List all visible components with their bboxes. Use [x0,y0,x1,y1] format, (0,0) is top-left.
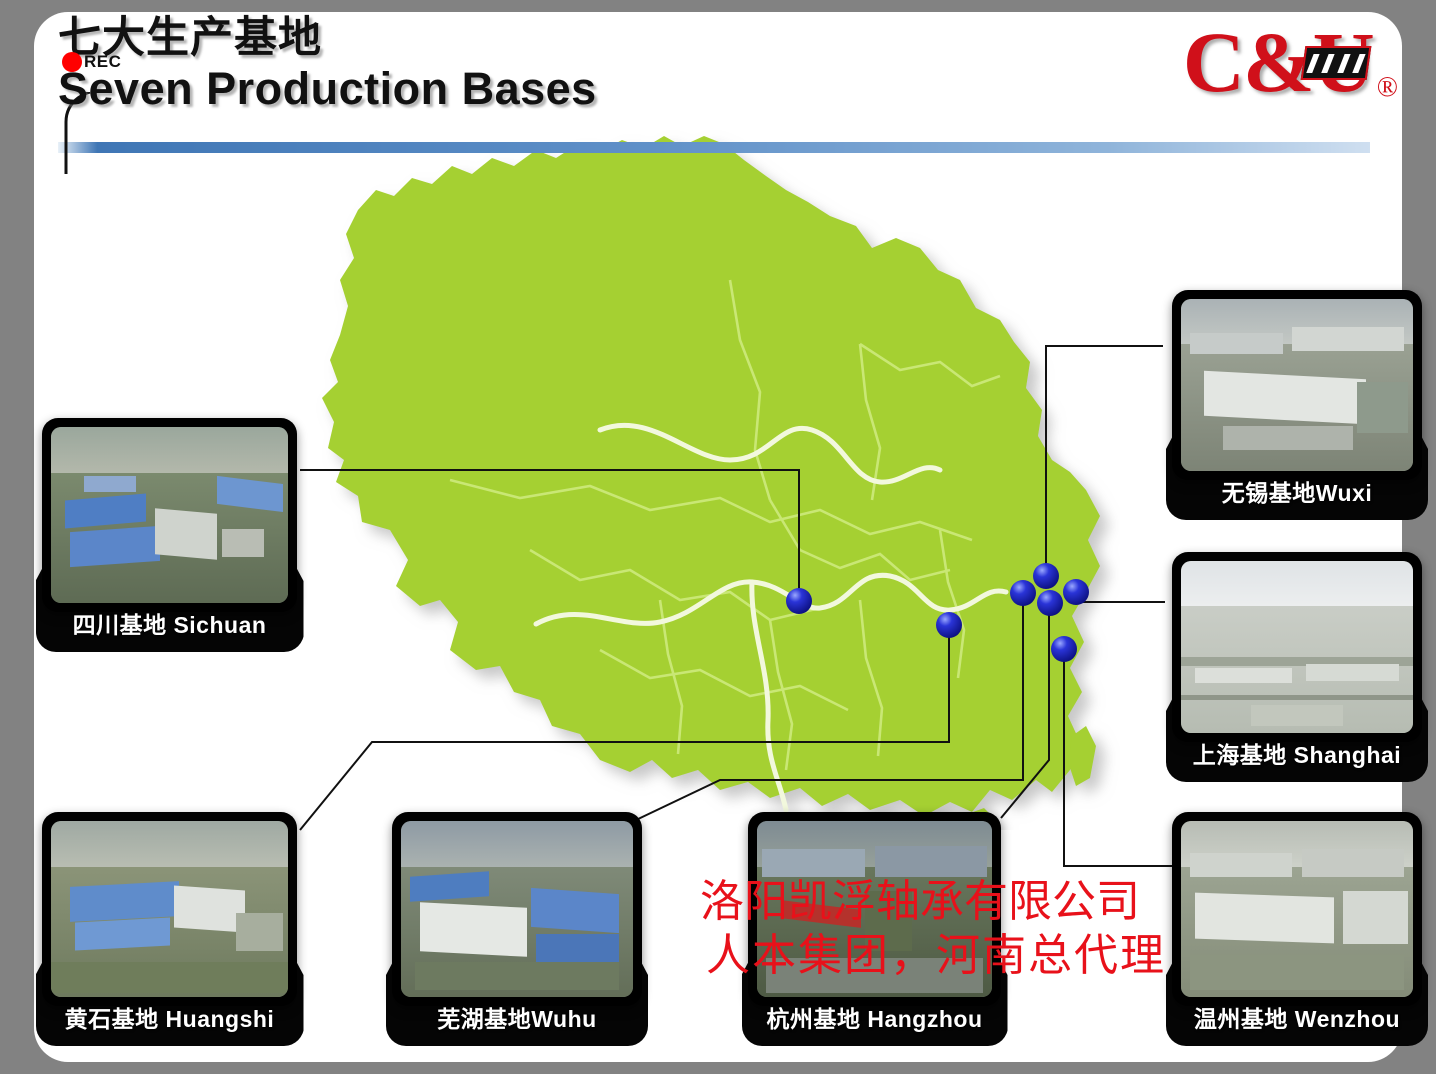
photo-sichuan [51,427,288,603]
logo-trademark: ® [1377,72,1398,104]
title-english: Seven Production Bases [58,65,597,112]
card-label-sichuan: 四川基地 Sichuan [42,598,297,648]
title-chinese: 七大生产基地 [58,16,597,61]
rec-label: REC [84,52,121,72]
card-wenzhou[interactable]: 温州基地 Wenzhou [1172,812,1422,1042]
rec-dot-icon [62,52,82,72]
card-huangshi[interactable]: 黄石基地 Huangshi [42,812,297,1042]
photo-wuxi [1181,299,1413,471]
card-label-wuhu: 芜湖基地Wuhu [392,992,642,1042]
photo-wuhu [401,821,633,997]
card-label-wuxi: 无锡基地Wuxi [1172,466,1422,516]
china-map [300,130,1120,830]
card-wuhu[interactable]: 芜湖基地Wuhu [392,812,642,1042]
card-wuxi[interactable]: 无锡基地Wuxi [1172,290,1422,516]
card-hangzhou[interactable]: 杭州基地 Hangzhou [748,812,1001,1042]
photo-huangshi [51,821,288,997]
logo-bars-icon [1300,46,1371,80]
map-landmass [322,136,1100,816]
photo-wenzhou [1181,821,1413,997]
card-label-huangshi: 黄石基地 Huangshi [42,992,297,1042]
header-divider [58,142,1370,153]
page-title: 七大生产基地 Seven Production Bases [58,16,597,112]
card-shanghai[interactable]: 上海基地 Shanghai [1172,552,1422,778]
cu-logo: C&U ® [1183,22,1398,104]
rec-badge: REC [62,52,121,72]
card-sichuan[interactable]: 四川基地 Sichuan [42,418,297,648]
card-label-hangzhou: 杭州基地 Hangzhou [748,992,1001,1042]
card-label-wenzhou: 温州基地 Wenzhou [1172,992,1422,1042]
photo-shanghai [1181,561,1413,733]
card-label-shanghai: 上海基地 Shanghai [1172,728,1422,778]
photo-hangzhou [757,821,992,997]
